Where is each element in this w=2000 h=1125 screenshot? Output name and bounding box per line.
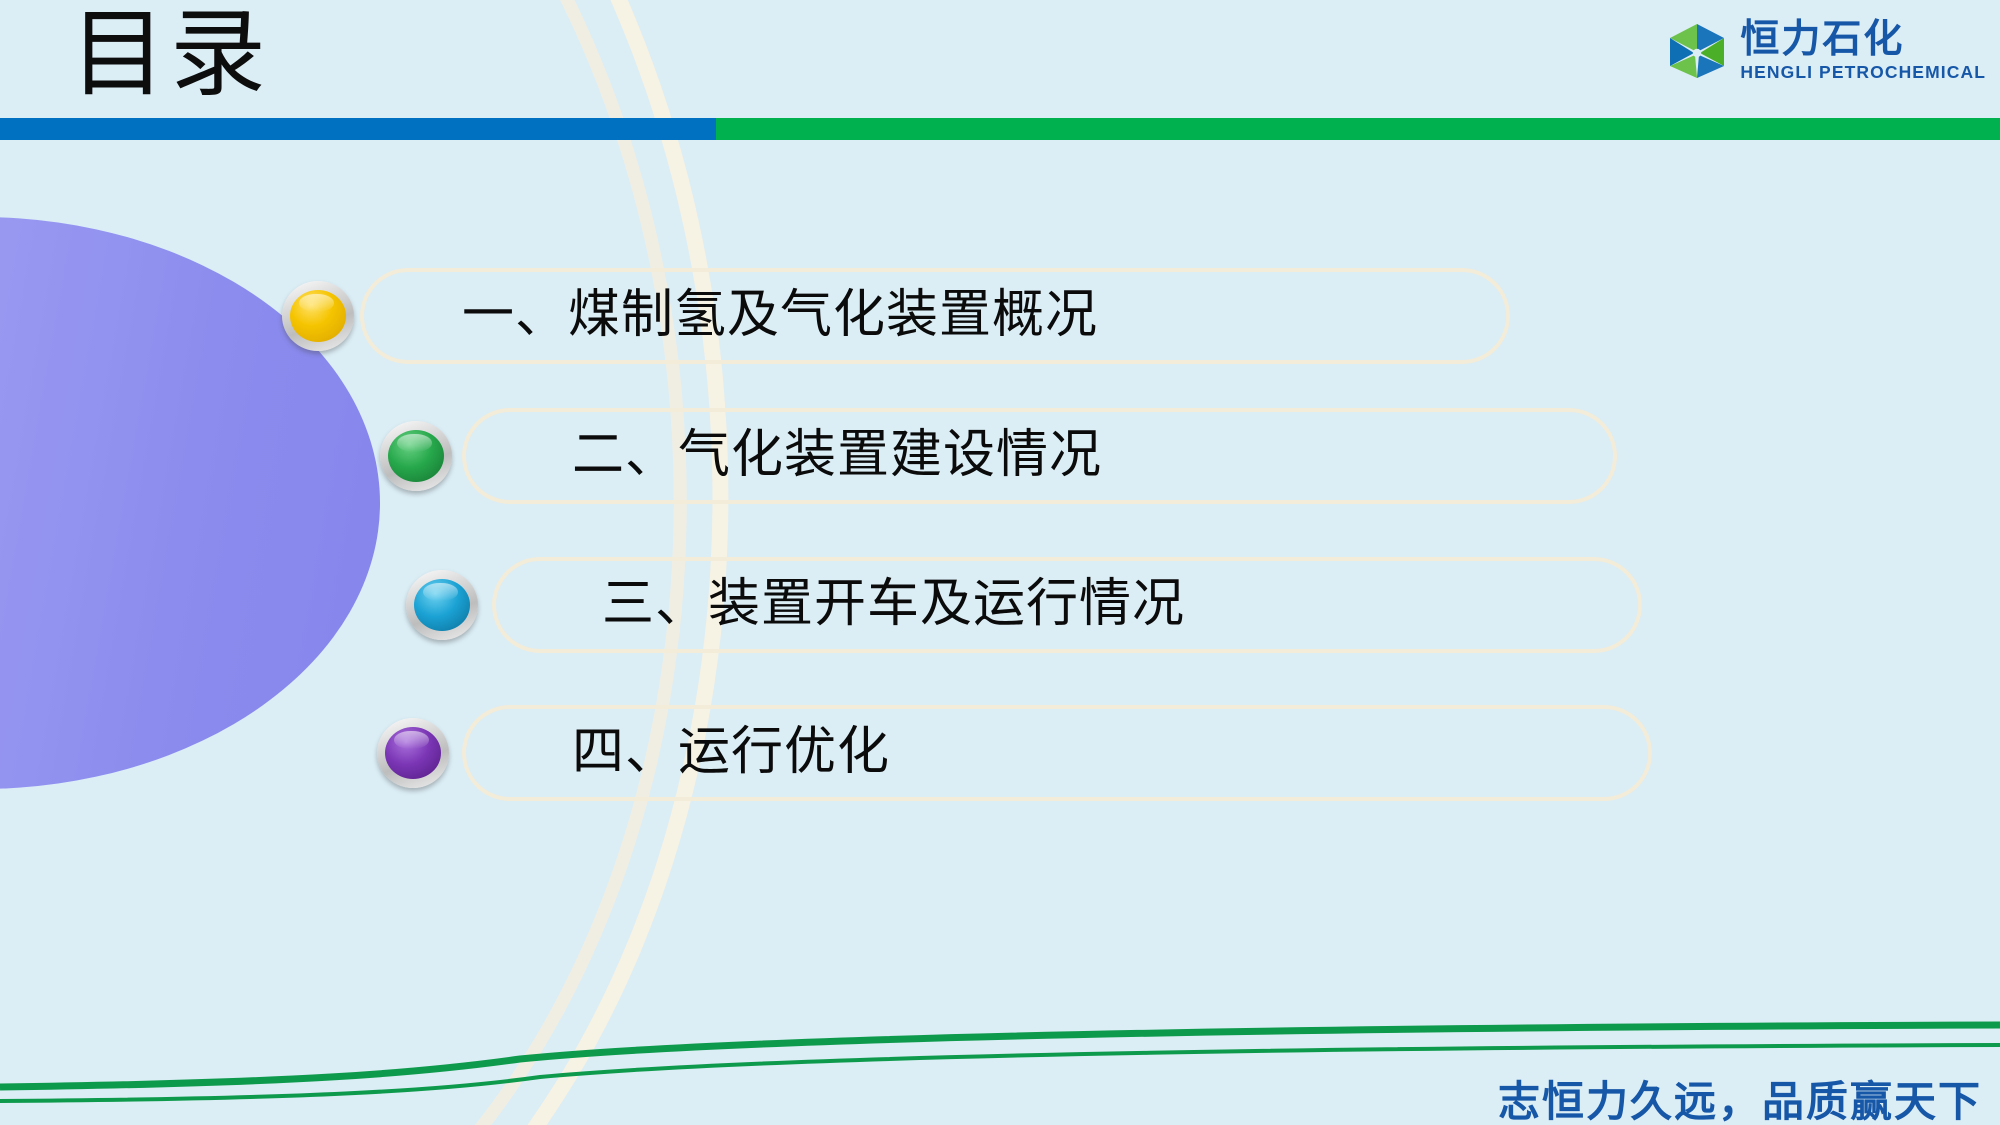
- gold-sphere-bullet-icon: [282, 281, 354, 351]
- footer-slogan: 志恒力久远，品质赢天下: [1498, 1068, 1982, 1125]
- slide-footer: 志恒力久远，品质赢天下: [0, 995, 2000, 1125]
- green-sphere-bullet-icon: [380, 421, 452, 491]
- contents-item-label-2: 二、气化装置建设情况: [572, 421, 1102, 491]
- contents-item-label-3: 三、装置开车及运行情况: [602, 570, 1185, 640]
- purple-sphere-bullet-icon: [377, 718, 449, 788]
- slide-canvas: 目录 恒力石化 HENGLI PETROCHEMICAL: [0, 0, 2000, 1125]
- contents-item-label-4: 四、运行优化: [572, 718, 890, 788]
- cyan-sphere-bullet-icon: [406, 570, 478, 640]
- contents-list: 一、煤制氢及气化装置概况 二、气化装置建设情况 三、装置开车及运行情况 四、运行…: [0, 0, 2000, 1125]
- contents-item-label-1: 一、煤制氢及气化装置概况: [462, 281, 1098, 351]
